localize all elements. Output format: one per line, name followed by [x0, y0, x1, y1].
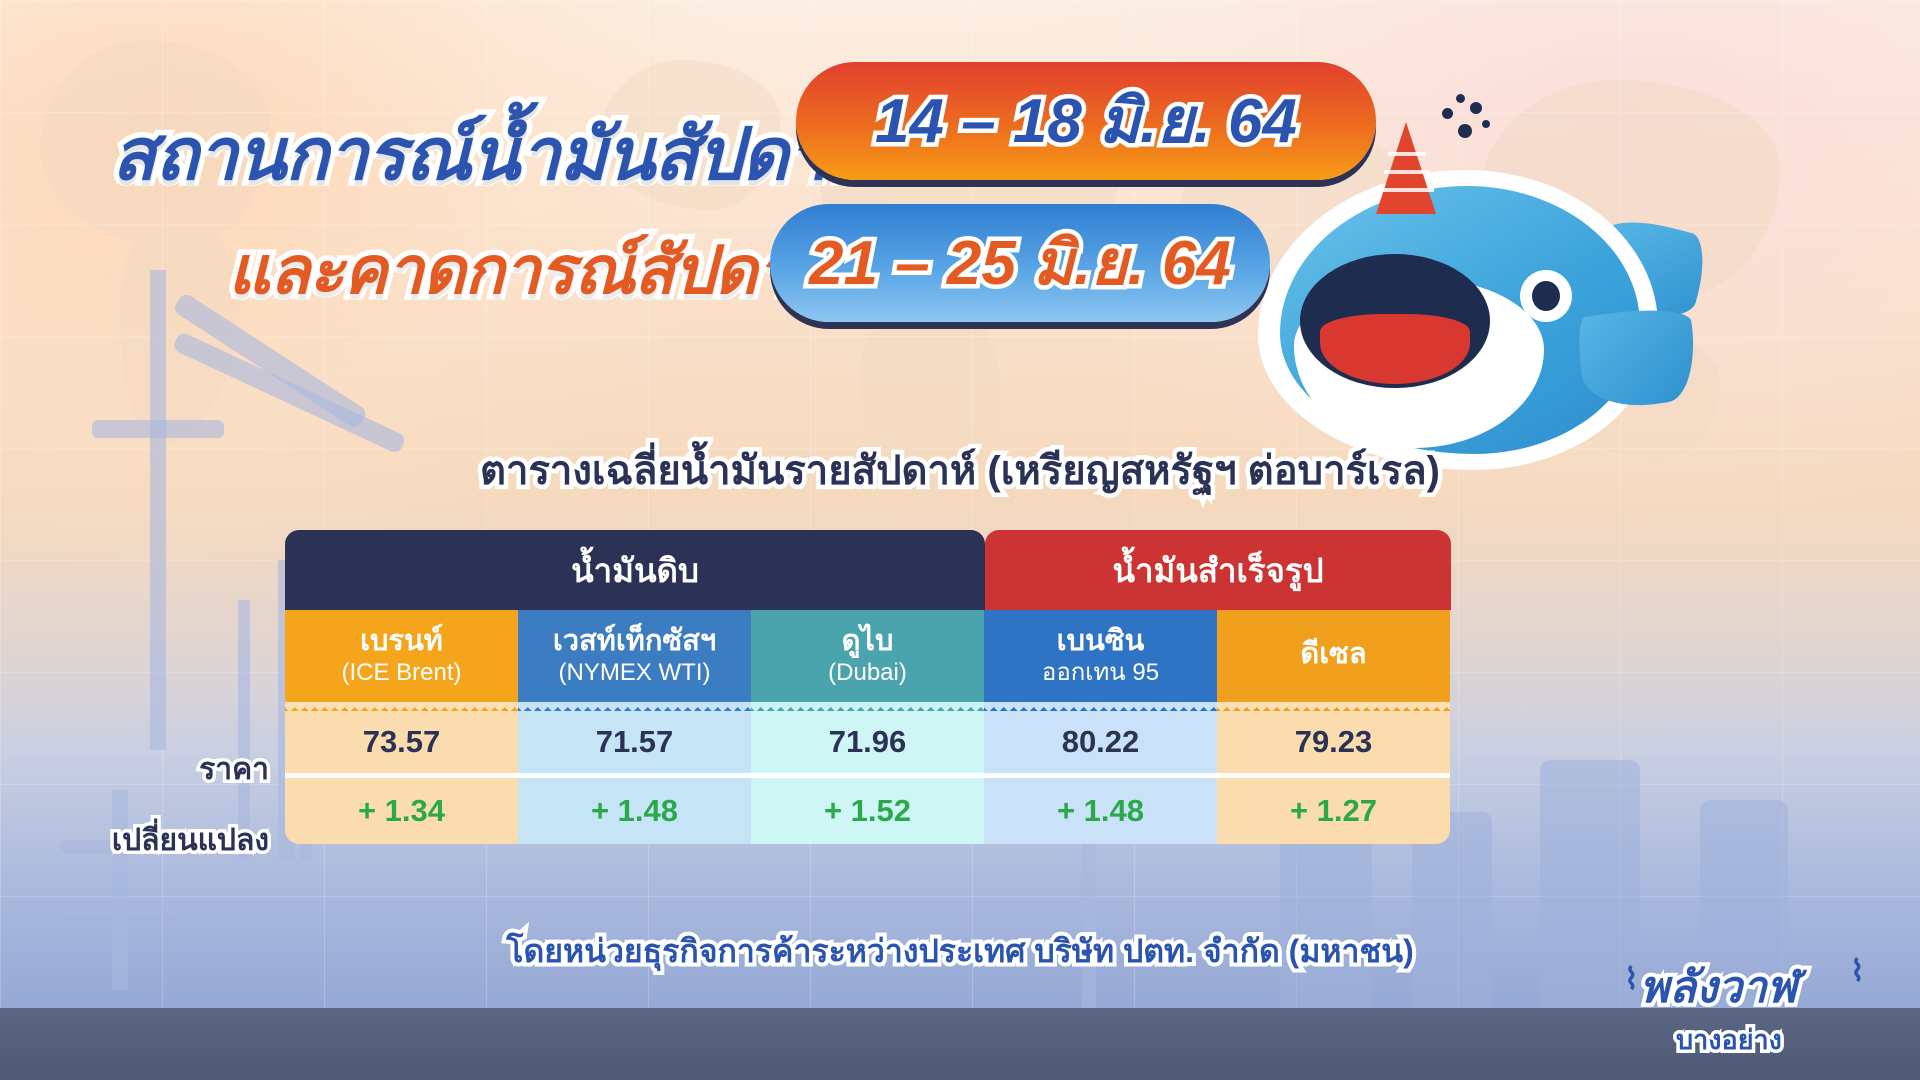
- price-dubai: 71.96: [751, 711, 984, 773]
- table-column-header-row: เบรนท์ (ICE Brent) เวสท์เท็กซัสฯ (NYMEX …: [285, 610, 1451, 702]
- badge-week-forecast: 21 – 25 มิ.ย. 64: [770, 204, 1270, 322]
- column-header-dubai: ดูไบ (Dubai): [751, 610, 984, 702]
- change-diesel: + 1.27: [1217, 778, 1450, 844]
- column-header-wti: เวสท์เท็กซัสฯ (NYMEX WTI): [518, 610, 751, 702]
- page-title-line2: และคาดการณ์สัปดาห์: [228, 218, 835, 323]
- column-header-dubai-sub: (Dubai): [828, 660, 907, 686]
- column-header-diesel: ดีเซล: [1217, 610, 1450, 702]
- column-header-brent: เบรนท์ (ICE Brent): [285, 610, 518, 702]
- row-label-price: ราคา: [9, 746, 269, 793]
- table-group-header-row: น้ำมันดิบ น้ำมันสำเร็จรูป: [285, 530, 1451, 610]
- row-label-change: เปลี่ยนแปลง: [9, 817, 269, 864]
- column-header-brent-sub: (ICE Brent): [341, 660, 461, 686]
- oil-price-table: น้ำมันดิบ น้ำมันสำเร็จรูป เบรนท์ (ICE Br…: [285, 530, 1451, 844]
- price-benzin: 80.22: [984, 711, 1217, 773]
- brand-logo: ⌇ ⌇ พลังวาฬ บางอย่าง: [1640, 952, 1890, 1048]
- change-brent: + 1.34: [285, 778, 518, 844]
- header-block: สถานการณ์น้ำมันสัปดาห์ 14 – 18 มิ.ย. 64 …: [0, 0, 1920, 430]
- column-header-benzin-sub: ออกเทน 95: [1042, 660, 1159, 686]
- header-zigzag-divider: [285, 702, 1451, 711]
- column-header-benzin-name: เบนซิน: [1057, 626, 1145, 657]
- group-header-crude: น้ำมันดิบ: [285, 530, 985, 610]
- column-header-dubai-name: ดูไบ: [842, 626, 894, 657]
- price-wti: 71.57: [518, 711, 751, 773]
- change-dubai: + 1.52: [751, 778, 984, 844]
- change-wti: + 1.48: [518, 778, 751, 844]
- page-title-line1: สถานการณ์น้ำมันสัปดาห์: [112, 96, 873, 211]
- column-header-benzin: เบนซิน ออกเทน 95: [984, 610, 1217, 702]
- change-benzin: + 1.48: [984, 778, 1217, 844]
- group-header-refined: น้ำมันสำเร็จรูป: [985, 530, 1451, 610]
- badge-week-actual: 14 – 18 มิ.ย. 64: [796, 62, 1376, 180]
- infographic-canvas: สถานการณ์น้ำมันสัปดาห์ 14 – 18 มิ.ย. 64 …: [0, 0, 1920, 1080]
- table-subtitle: ตารางเฉลี่ยน้ำมันรายสัปดาห์ (เหรียญสหรัฐ…: [0, 438, 1920, 502]
- price-diesel: 79.23: [1217, 711, 1450, 773]
- column-header-brent-name: เบรนท์: [360, 626, 443, 657]
- table-row-price: 73.57 71.57 71.96 80.22 79.23: [285, 711, 1451, 773]
- column-header-wti-sub: (NYMEX WTI): [559, 660, 711, 686]
- column-header-wti-name: เวสท์เท็กซัสฯ: [553, 626, 716, 657]
- table-row-change: + 1.34 + 1.48 + 1.52 + 1.48 + 1.27: [285, 778, 1451, 844]
- brand-logo-line2: บางอย่าง: [1676, 1018, 1890, 1061]
- column-header-diesel-name: ดีเซล: [1300, 639, 1366, 670]
- price-brent: 73.57: [285, 711, 518, 773]
- bottom-bar: [0, 1008, 1920, 1080]
